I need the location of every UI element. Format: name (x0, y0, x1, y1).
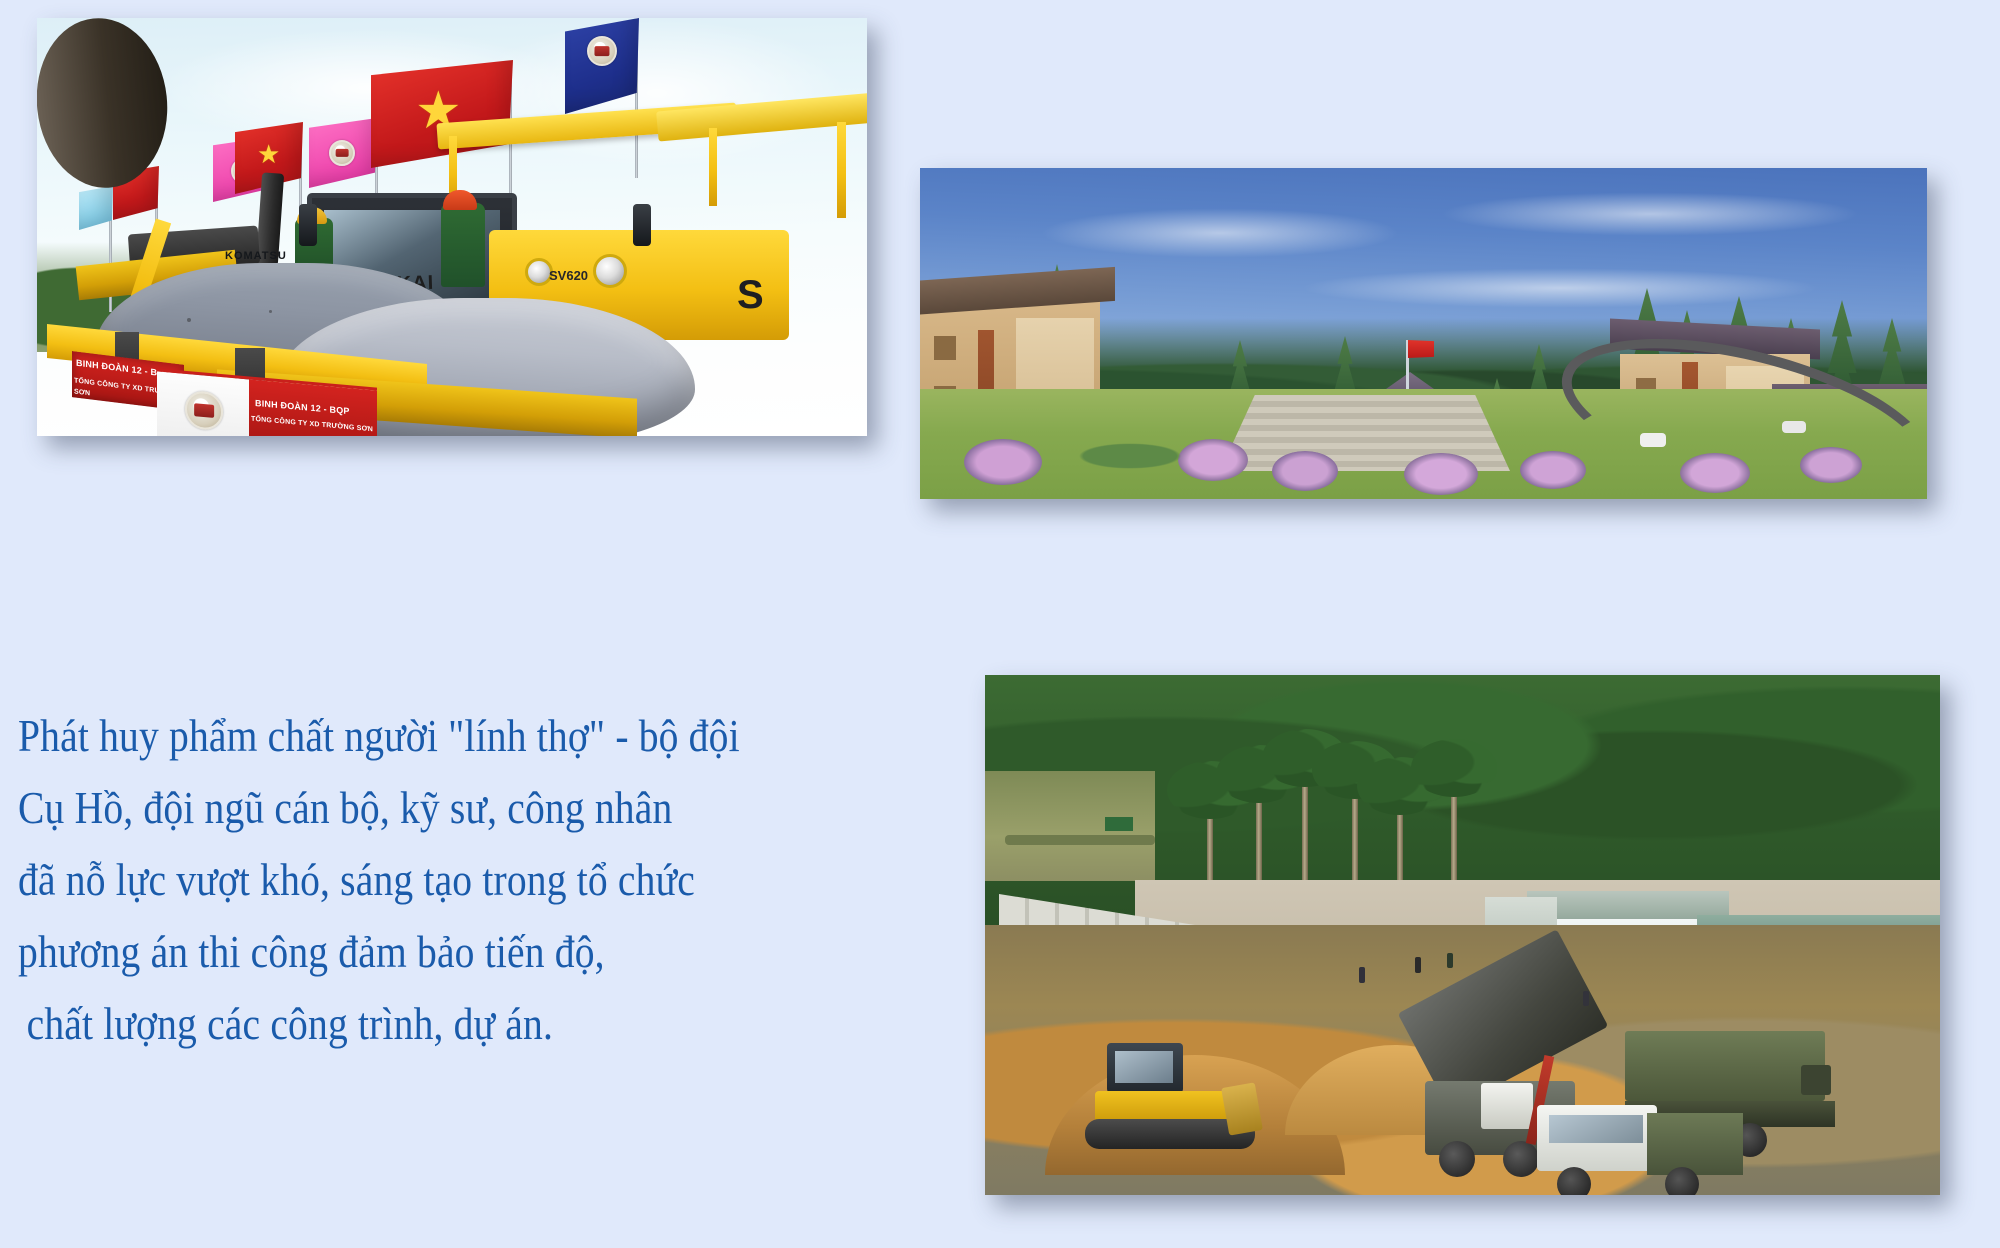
cloud-right (467, 18, 847, 168)
work-light-icon (593, 254, 627, 288)
worker-figure (1583, 991, 1589, 1006)
dump-truck-cab (1481, 1083, 1533, 1129)
banner-emblem-icon (185, 390, 223, 431)
cloud-wisp (1300, 268, 1820, 308)
dump-truck-wheel (1439, 1141, 1475, 1177)
machine-brand-komatsu-label: KOMATSU (225, 250, 287, 262)
star-icon-mid: ★ (257, 142, 280, 168)
flower-shrub (1272, 451, 1338, 491)
caption-line-2: Cụ Hồ, đội ngũ cán bộ, kỹ sư, công nhân (18, 772, 818, 844)
drum-speck (269, 310, 272, 313)
flag-blue-cloth (565, 18, 639, 114)
flag-light-blue (79, 186, 113, 230)
worker-figure (1415, 957, 1421, 973)
cloud-wisp (1440, 192, 1860, 236)
cloud-wisp (1040, 208, 1400, 258)
machine-model-label: SV620 (549, 268, 588, 283)
flower-shrub (1520, 451, 1586, 489)
field-terrace-line (1005, 835, 1155, 845)
worker-figure (1447, 953, 1453, 968)
drum-speck (187, 318, 191, 322)
palm-crown (1411, 739, 1497, 797)
infographic-canvas: ★ ★ (0, 0, 2000, 1248)
flag-vietnam-large: ★ (371, 60, 513, 168)
side-mirror-left (299, 204, 317, 246)
flag-blue (565, 18, 639, 114)
worker-operator (441, 203, 485, 287)
flower-shrub (1680, 453, 1750, 493)
white-truck-bed (1647, 1113, 1743, 1175)
photo-resort-complex-scene (920, 168, 1927, 499)
photo-earthworks-scene (985, 675, 1940, 1195)
emblem-icon-right (329, 140, 355, 166)
white-truck-windshield (1549, 1115, 1643, 1143)
side-mirror-right (633, 204, 651, 246)
white-truck-wheel (1665, 1167, 1699, 1195)
flag-vietnam-rooftop (1408, 340, 1434, 358)
bulldozer-cab-glass (1115, 1051, 1173, 1083)
canopy-post-b (709, 128, 717, 206)
bulldozer[interactable] (1085, 1043, 1260, 1153)
caption-line-1: Phát huy phẩm chất người "lính thợ" - bộ… (18, 700, 818, 772)
hedge-green (1070, 441, 1190, 471)
car-white-2 (1782, 421, 1806, 433)
flower-shrub (964, 439, 1042, 485)
flag-light-blue-cloth (79, 186, 113, 230)
building-left-window (934, 336, 956, 360)
dump-truck-wheel (1503, 1141, 1539, 1177)
canopy-post-c (837, 122, 846, 218)
photo-earthworks[interactable] (985, 675, 1940, 1195)
car-white (1640, 433, 1666, 447)
dump-truck-green-placard (1801, 1065, 1831, 1095)
caption-line-3: đã nỗ lực vượt khó, sáng tạo trong tổ ch… (18, 844, 818, 916)
caption-block: Phát huy phẩm chất người "lính thợ" - bộ… (18, 700, 948, 1060)
photo-road-roller[interactable]: ★ ★ (37, 18, 867, 436)
caption-line-5: chất lượng các công trình, dự án. (18, 988, 818, 1060)
white-truck-wheel (1557, 1167, 1591, 1195)
caption-line-4: phương án thi công đảm bảo tiến độ, (18, 916, 818, 988)
small-hut-roof (1105, 817, 1133, 831)
bulldozer-blade (1221, 1082, 1263, 1135)
flower-shrub (1404, 453, 1478, 495)
machine-initial-label: S (737, 273, 764, 318)
worker-figure (1359, 967, 1365, 983)
flower-shrub (1800, 447, 1862, 483)
flower-shrub (1178, 439, 1248, 481)
photo-road-roller-scene: ★ ★ (37, 18, 867, 436)
dump-truck-green-bed (1625, 1031, 1825, 1101)
dump-truck-white-cab[interactable] (1537, 1105, 1747, 1195)
flag-pink-right (309, 118, 377, 188)
emblem-icon-blue (587, 36, 617, 66)
photo-resort-complex[interactable] (920, 168, 1927, 499)
